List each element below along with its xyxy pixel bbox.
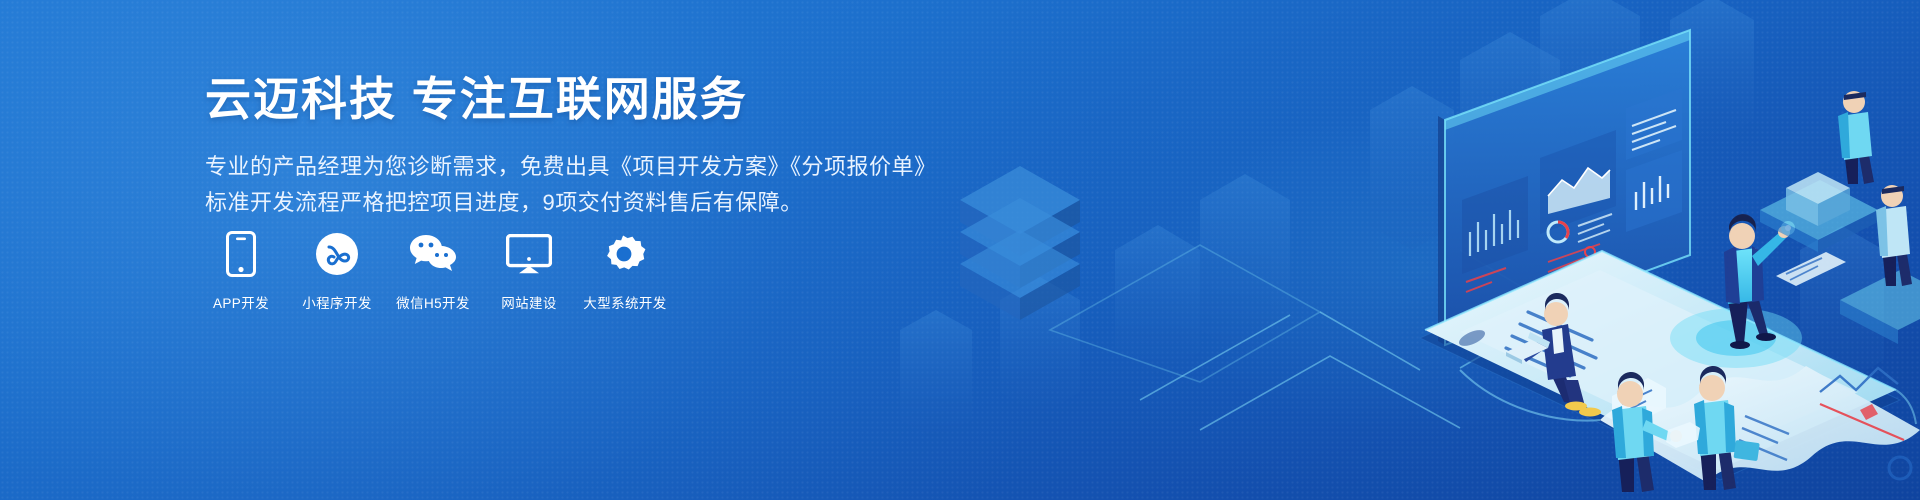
service-label: APP开发 xyxy=(213,292,269,312)
service-label: 小程序开发 xyxy=(302,292,372,312)
service-item-website[interactable]: 网站建设 xyxy=(493,228,565,312)
mobile-phone-icon xyxy=(226,228,256,280)
service-label: 大型系统开发 xyxy=(583,292,666,312)
hero-copy: 云迈科技 专注互联网服务 专业的产品经理为您诊断需求，免费出具《项目开发方案》《… xyxy=(205,72,925,221)
gear-icon xyxy=(603,228,647,280)
service-item-mini-program[interactable]: 小程序开发 xyxy=(301,228,373,312)
service-item-app[interactable]: APP开发 xyxy=(205,228,277,312)
hero-banner: 云迈科技 专注互联网服务 专业的产品经理为您诊断需求，免费出具《项目开发方案》《… xyxy=(0,0,1920,500)
side-platform-upper xyxy=(1760,91,1878,252)
service-label: 网站建设 xyxy=(501,292,557,312)
service-item-wechat[interactable]: 微信H5开发 xyxy=(397,228,469,312)
service-label: 微信H5开发 xyxy=(396,292,470,312)
page-title: 云迈科技 专注互联网服务 xyxy=(205,72,925,127)
subcopy-line-2: 标准开发流程严格把控项目进度，9项交付资料售后有保障。 xyxy=(205,185,925,221)
hero-subcopy: 专业的产品经理为您诊断需求，免费出具《项目开发方案》《分项报价单》 标准开发流程… xyxy=(205,149,925,221)
wechat-icon xyxy=(409,228,457,280)
subcopy-line-1: 专业的产品经理为您诊断需求，免费出具《项目开发方案》《分项报价单》 xyxy=(205,149,925,185)
monitor-icon xyxy=(506,228,552,280)
isometric-data-platform-illustration xyxy=(900,0,1920,500)
service-icon-list: APP开发 小程序开发 微信 xyxy=(205,228,661,312)
service-item-system[interactable]: 大型系统开发 xyxy=(589,228,661,312)
mini-program-icon xyxy=(315,228,359,280)
